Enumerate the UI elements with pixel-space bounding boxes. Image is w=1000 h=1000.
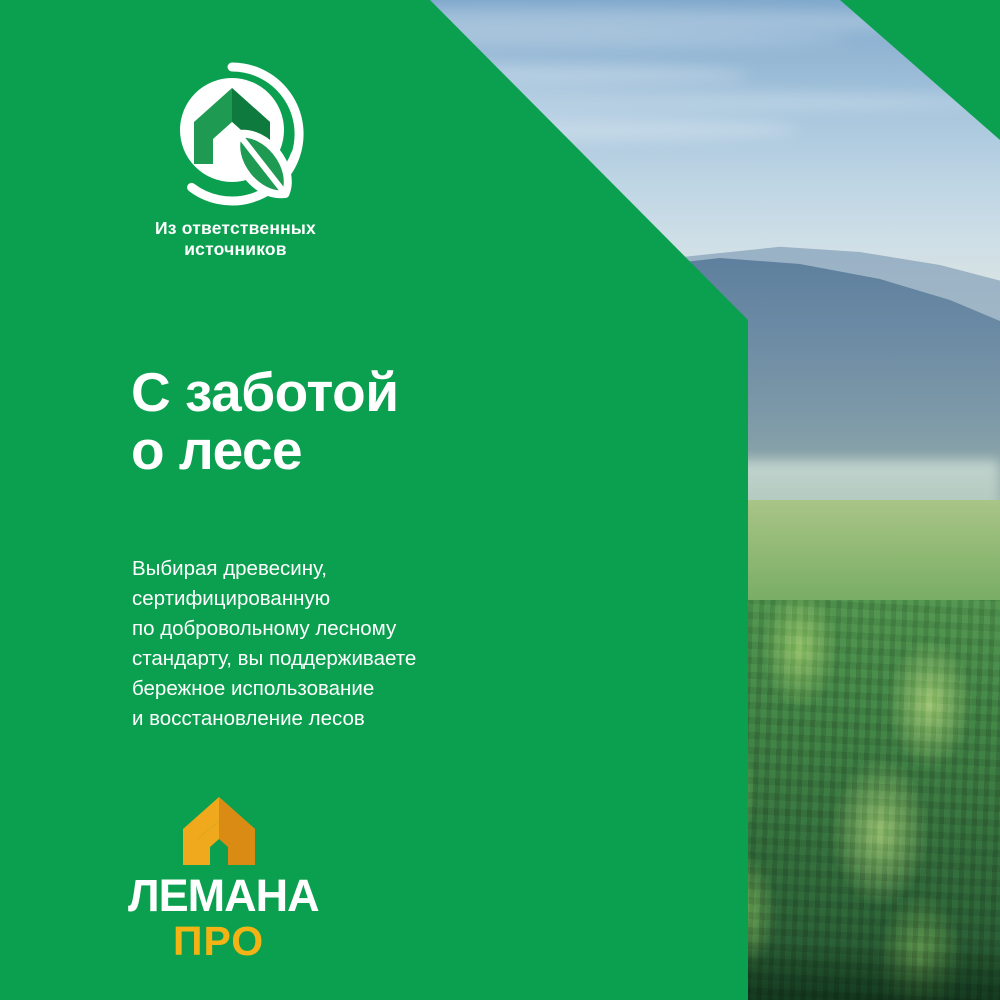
brand-logo: ЛЕМАНА ПРО [128, 795, 358, 962]
brand-name: ЛЕМАНА [128, 873, 358, 918]
badge-caption-line1: Из ответственных [155, 218, 316, 238]
certification-badge: Из ответственных источников [128, 60, 368, 259]
lemana-house-icon [180, 795, 258, 867]
poster: Из ответственных источников С заботой о … [0, 0, 1000, 1000]
badge-caption: Из ответственных источников [128, 218, 343, 259]
brand-sub: ПРО [173, 921, 358, 962]
badge-caption-line2: источников [128, 239, 343, 260]
poster-content: Из ответственных источников С заботой о … [0, 0, 1000, 1000]
page-title: С заботой о лесе [131, 363, 399, 480]
body-text: Выбирая древесину, сертифицированную по … [132, 554, 416, 735]
house-leaf-circle-icon [158, 60, 306, 208]
